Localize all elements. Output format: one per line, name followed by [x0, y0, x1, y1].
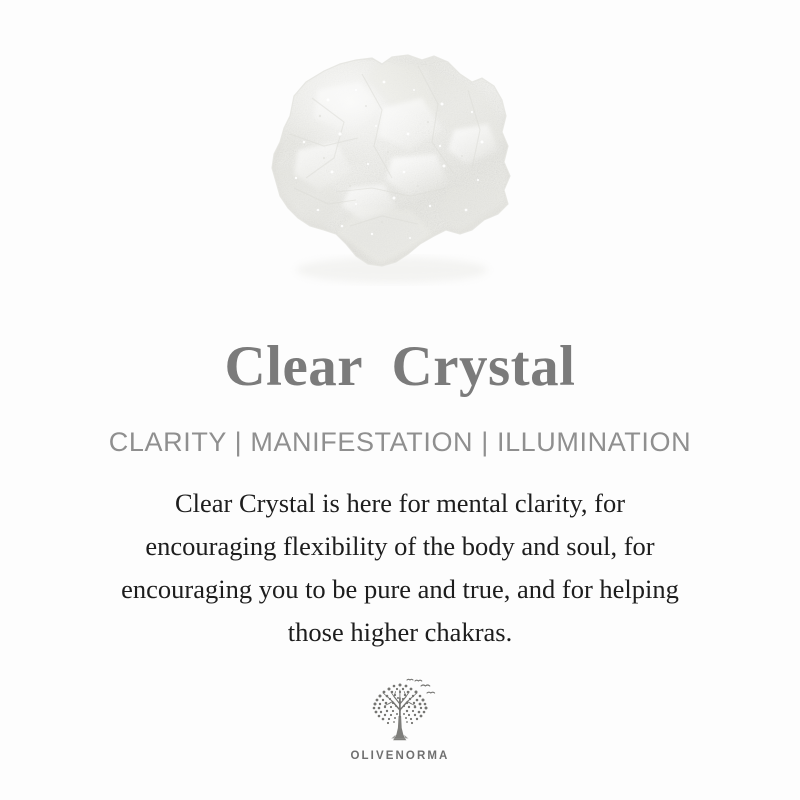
clear-crystal-image [232, 38, 537, 296]
product-description: Clear Crystal is here for mental clarity… [40, 482, 760, 654]
product-image-container [0, 0, 800, 300]
product-info-card: Clear Crystal CLARITY | MANIFESTATION | … [0, 0, 800, 800]
crystal-body [232, 38, 537, 296]
page-title: Clear Crystal [224, 338, 575, 395]
description-line: encouraging you to be pure and true, and… [40, 568, 760, 611]
tree-icon [361, 676, 439, 746]
brand-logo: OLIVENORMA [351, 676, 450, 762]
product-attributes: CLARITY | MANIFESTATION | ILLUMINATION [109, 429, 691, 456]
description-line: those higher chakras. [40, 611, 760, 654]
brand-wordmark: OLIVENORMA [351, 750, 450, 762]
birds-icon [407, 679, 435, 693]
description-line: Clear Crystal is here for mental clarity… [40, 482, 760, 525]
description-line: encouraging flexibility of the body and … [40, 525, 760, 568]
